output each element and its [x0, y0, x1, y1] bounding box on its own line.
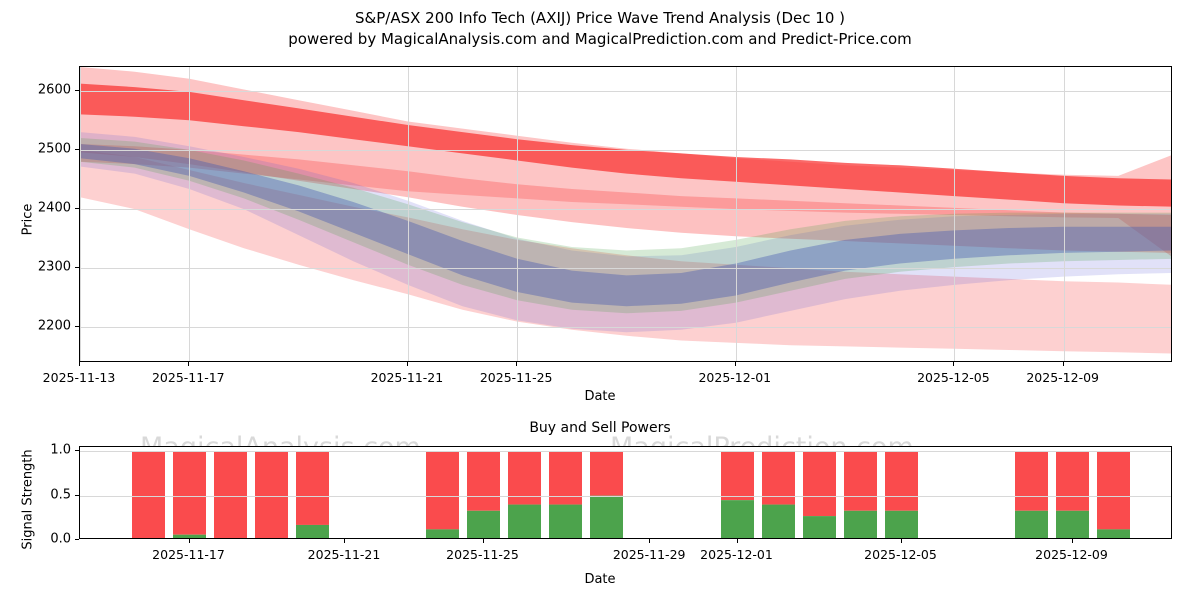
- buy-power-bar: [590, 496, 623, 539]
- price-x-tick-mark: [953, 362, 954, 366]
- gridline-vertical: [954, 67, 955, 361]
- signal-x-tick-label: 2025-12-01: [700, 547, 773, 562]
- price-x-tick-mark: [735, 362, 736, 366]
- price-x-tick-mark: [79, 362, 80, 366]
- price-y-axis-label: Price: [21, 180, 36, 260]
- gridline-vertical: [408, 67, 409, 361]
- sell-power-bar: [803, 451, 836, 516]
- buy-power-bar: [296, 525, 329, 539]
- buy-power-bar: [885, 511, 918, 539]
- price-y-tick-label: 2500: [38, 141, 71, 156]
- signal-plot-area: [79, 446, 1172, 539]
- sell-power-bar: [721, 451, 754, 500]
- sell-power-bar: [1097, 451, 1130, 529]
- price-x-tick-mark: [1063, 362, 1064, 366]
- buy-power-bar: [844, 511, 877, 539]
- signal-x-tick-label: 2025-12-09: [1035, 547, 1108, 562]
- signal-x-tick-label: 2025-12-05: [864, 547, 937, 562]
- signal-bars: [80, 447, 1172, 539]
- buy-power-bar: [173, 535, 206, 539]
- price-x-tick-mark: [188, 362, 189, 366]
- signal-x-tick-mark: [189, 539, 190, 543]
- sell-power-bar: [173, 451, 206, 534]
- signal-x-tick-label: 2025-11-17: [152, 547, 225, 562]
- gridline-vertical: [189, 67, 190, 361]
- price-x-tick-label: 2025-11-17: [152, 370, 225, 385]
- sell-power-bar: [426, 451, 459, 529]
- gridline-vertical: [736, 67, 737, 361]
- buy-power-bar: [721, 500, 754, 539]
- gridline-vertical: [80, 67, 81, 361]
- signal-y-tick-label: 0.5: [50, 487, 71, 502]
- sell-power-bar: [844, 451, 877, 510]
- signal-x-tick-label: 2025-11-25: [446, 547, 519, 562]
- sell-power-bar: [590, 451, 623, 495]
- sell-power-bar: [885, 451, 918, 510]
- price-x-tick-label: 2025-12-01: [698, 370, 771, 385]
- sell-power-bar: [1056, 451, 1089, 510]
- gridline-horizontal: [80, 209, 1171, 210]
- signal-x-tick-mark: [901, 539, 902, 543]
- buy-power-bar: [508, 505, 541, 539]
- gridline-vertical: [517, 67, 518, 361]
- gridline-horizontal: [80, 268, 1171, 269]
- signal-x-tick-mark: [483, 539, 484, 543]
- price-x-tick-mark: [407, 362, 408, 366]
- signal-x-tick-label: 2025-11-21: [308, 547, 381, 562]
- price-y-tick-label: 2300: [38, 260, 71, 275]
- signal-x-tick-mark: [737, 539, 738, 543]
- price-x-tick-label: 2025-12-05: [917, 370, 990, 385]
- signal-x-tick-mark: [344, 539, 345, 543]
- signal-y-tick-mark: [75, 539, 79, 540]
- sell-power-bar: [296, 451, 329, 525]
- signal-y-tick-label: 1.0: [50, 443, 71, 458]
- sell-power-bar: [467, 451, 500, 510]
- gridline-horizontal: [80, 150, 1171, 151]
- price-x-tick-label: 2025-11-13: [43, 370, 116, 385]
- buy-power-bar: [1015, 511, 1048, 539]
- sell-power-bar: [1015, 451, 1048, 510]
- gridline-vertical: [1064, 67, 1065, 361]
- price-x-tick-label: 2025-11-21: [371, 370, 444, 385]
- signal-x-axis-label: Date: [0, 572, 1200, 587]
- price-y-tick-label: 2400: [38, 201, 71, 216]
- signal-y-tick-label: 0.0: [50, 532, 71, 547]
- buy-power-bar: [803, 516, 836, 539]
- price-y-tick-label: 2200: [38, 319, 71, 334]
- signal-chart-panel: Buy and Sell Powers Signal Strength 0.00…: [0, 412, 1200, 600]
- signal-x-tick-label: 2025-11-29: [613, 547, 686, 562]
- gridline-horizontal: [80, 496, 1171, 497]
- buy-power-bar: [1056, 511, 1089, 539]
- buy-power-bar: [426, 529, 459, 539]
- buy-power-bar: [1097, 529, 1130, 539]
- buy-power-bar: [762, 505, 795, 539]
- gridline-horizontal: [80, 327, 1171, 328]
- price-x-tick-label: 2025-12-09: [1026, 370, 1099, 385]
- price-x-tick-label: 2025-11-25: [480, 370, 553, 385]
- gridline-horizontal: [80, 451, 1171, 452]
- signal-x-tick-mark: [1072, 539, 1073, 543]
- price-chart-panel: Price 22002300240025002600 2025-11-13202…: [0, 0, 1200, 400]
- price-y-tick-label: 2600: [38, 82, 71, 97]
- gridline-horizontal: [80, 91, 1171, 92]
- buy-power-bar: [549, 505, 582, 539]
- signal-x-tick-mark: [649, 539, 650, 543]
- price-wave-bands: [80, 67, 1172, 362]
- price-plot-area: [79, 66, 1172, 362]
- signal-chart-title: Buy and Sell Powers: [0, 420, 1200, 436]
- price-x-axis-label: Date: [0, 389, 1200, 404]
- price-x-tick-mark: [516, 362, 517, 366]
- signal-y-axis-label: Signal Strength: [21, 420, 36, 580]
- buy-power-bar: [467, 511, 500, 539]
- chart-page: S&P/ASX 200 Info Tech (AXIJ) Price Wave …: [0, 0, 1200, 600]
